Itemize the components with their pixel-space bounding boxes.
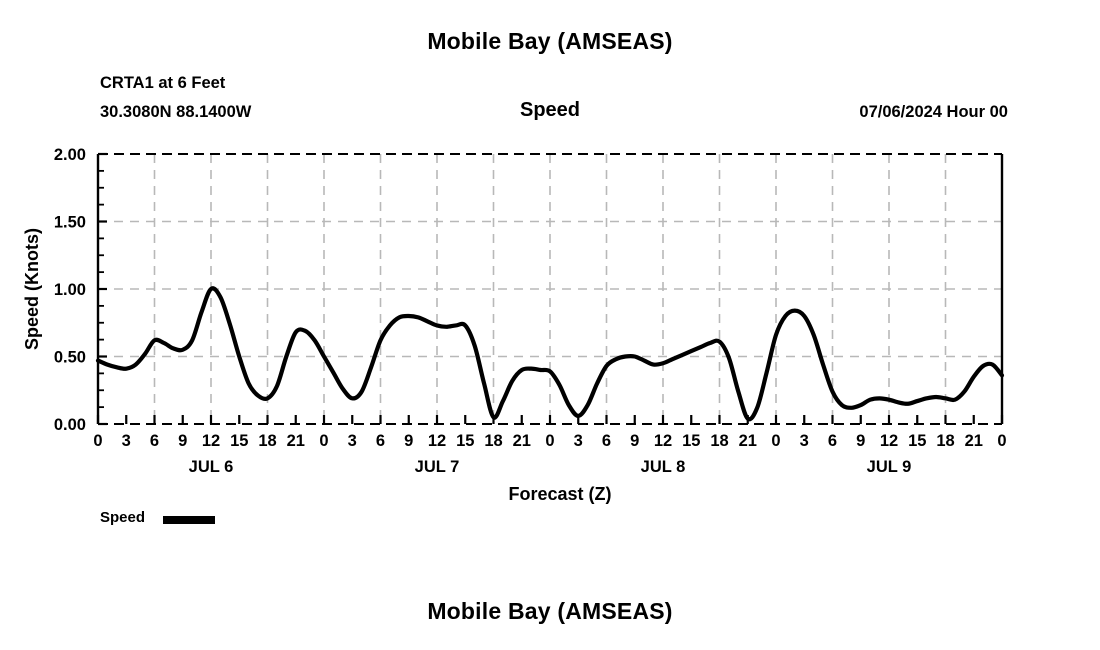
xtick-label: 15 [456,432,474,450]
y-axis-title: Speed (Knots) [22,228,42,350]
xtick-label: 12 [202,432,220,450]
xtick-label: 6 [602,432,611,450]
xtick-label: 0 [771,432,780,450]
xtick-label: 12 [428,432,446,450]
xtick-label: 21 [287,432,305,450]
xtick-label: 18 [258,432,276,450]
xtick-label: 21 [513,432,531,450]
legend-label: Speed [100,509,145,526]
ytick-label: 1.50 [54,214,86,232]
xtick-label: 3 [122,432,131,450]
ytick-label: 0.50 [54,349,86,367]
xtick-label: 15 [908,432,926,450]
xtick-label: 3 [574,432,583,450]
xtick-label: 12 [654,432,672,450]
ytick-label: 0.00 [54,416,86,434]
xtick-label: 18 [936,432,954,450]
ytick-label: 2.00 [54,146,86,164]
xtick-label: 6 [828,432,837,450]
chart-page: Mobile Bay (AMSEAS) CRTA1 at 6 Feet 30.3… [0,0,1100,650]
xtick-label: 9 [404,432,413,450]
xtick-label: 0 [93,432,102,450]
xtick-label: 15 [682,432,700,450]
x-axis-title: Forecast (Z) [508,484,611,504]
xtick-label: 15 [230,432,248,450]
xtick-label: 0 [997,432,1006,450]
day-label: JUL 9 [867,458,912,476]
xtick-label: 9 [856,432,865,450]
xtick-label: 6 [376,432,385,450]
day-label: JUL 6 [189,458,234,476]
xtick-label: 18 [710,432,728,450]
xtick-label: 9 [178,432,187,450]
xtick-label: 3 [348,432,357,450]
xtick-label: 21 [965,432,983,450]
page-title-bottom: Mobile Bay (AMSEAS) [0,598,1100,625]
day-label: JUL 8 [641,458,686,476]
legend-swatch-speed [163,516,215,524]
xtick-label: 12 [880,432,898,450]
xtick-label: 9 [630,432,639,450]
day-label: JUL 7 [415,458,460,476]
xtick-label: 21 [739,432,757,450]
speed-timeseries-chart: 0.000.501.001.502.0003691215182103691215… [0,0,1100,650]
xtick-label: 0 [319,432,328,450]
ytick-label: 1.00 [54,281,86,299]
xtick-label: 6 [150,432,159,450]
xtick-label: 3 [800,432,809,450]
xtick-label: 0 [545,432,554,450]
xtick-label: 18 [484,432,502,450]
